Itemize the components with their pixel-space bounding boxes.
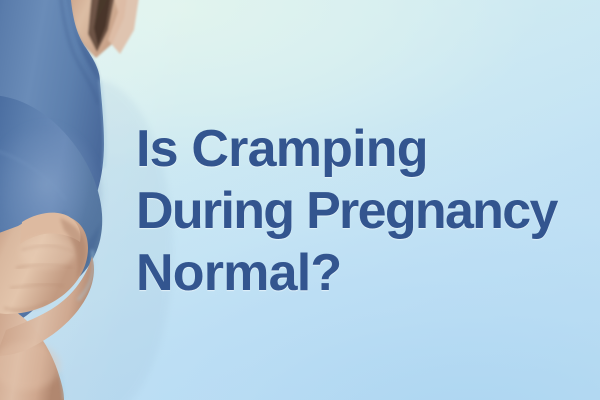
headline-line-3: Normal? [136, 242, 588, 304]
article-banner: Is Cramping During Pregnancy Normal? [0, 0, 600, 400]
headline-line-1: Is Cramping [136, 118, 588, 180]
headline: Is Cramping During Pregnancy Normal? [136, 118, 588, 304]
headline-line-2: During Pregnancy [136, 180, 588, 242]
